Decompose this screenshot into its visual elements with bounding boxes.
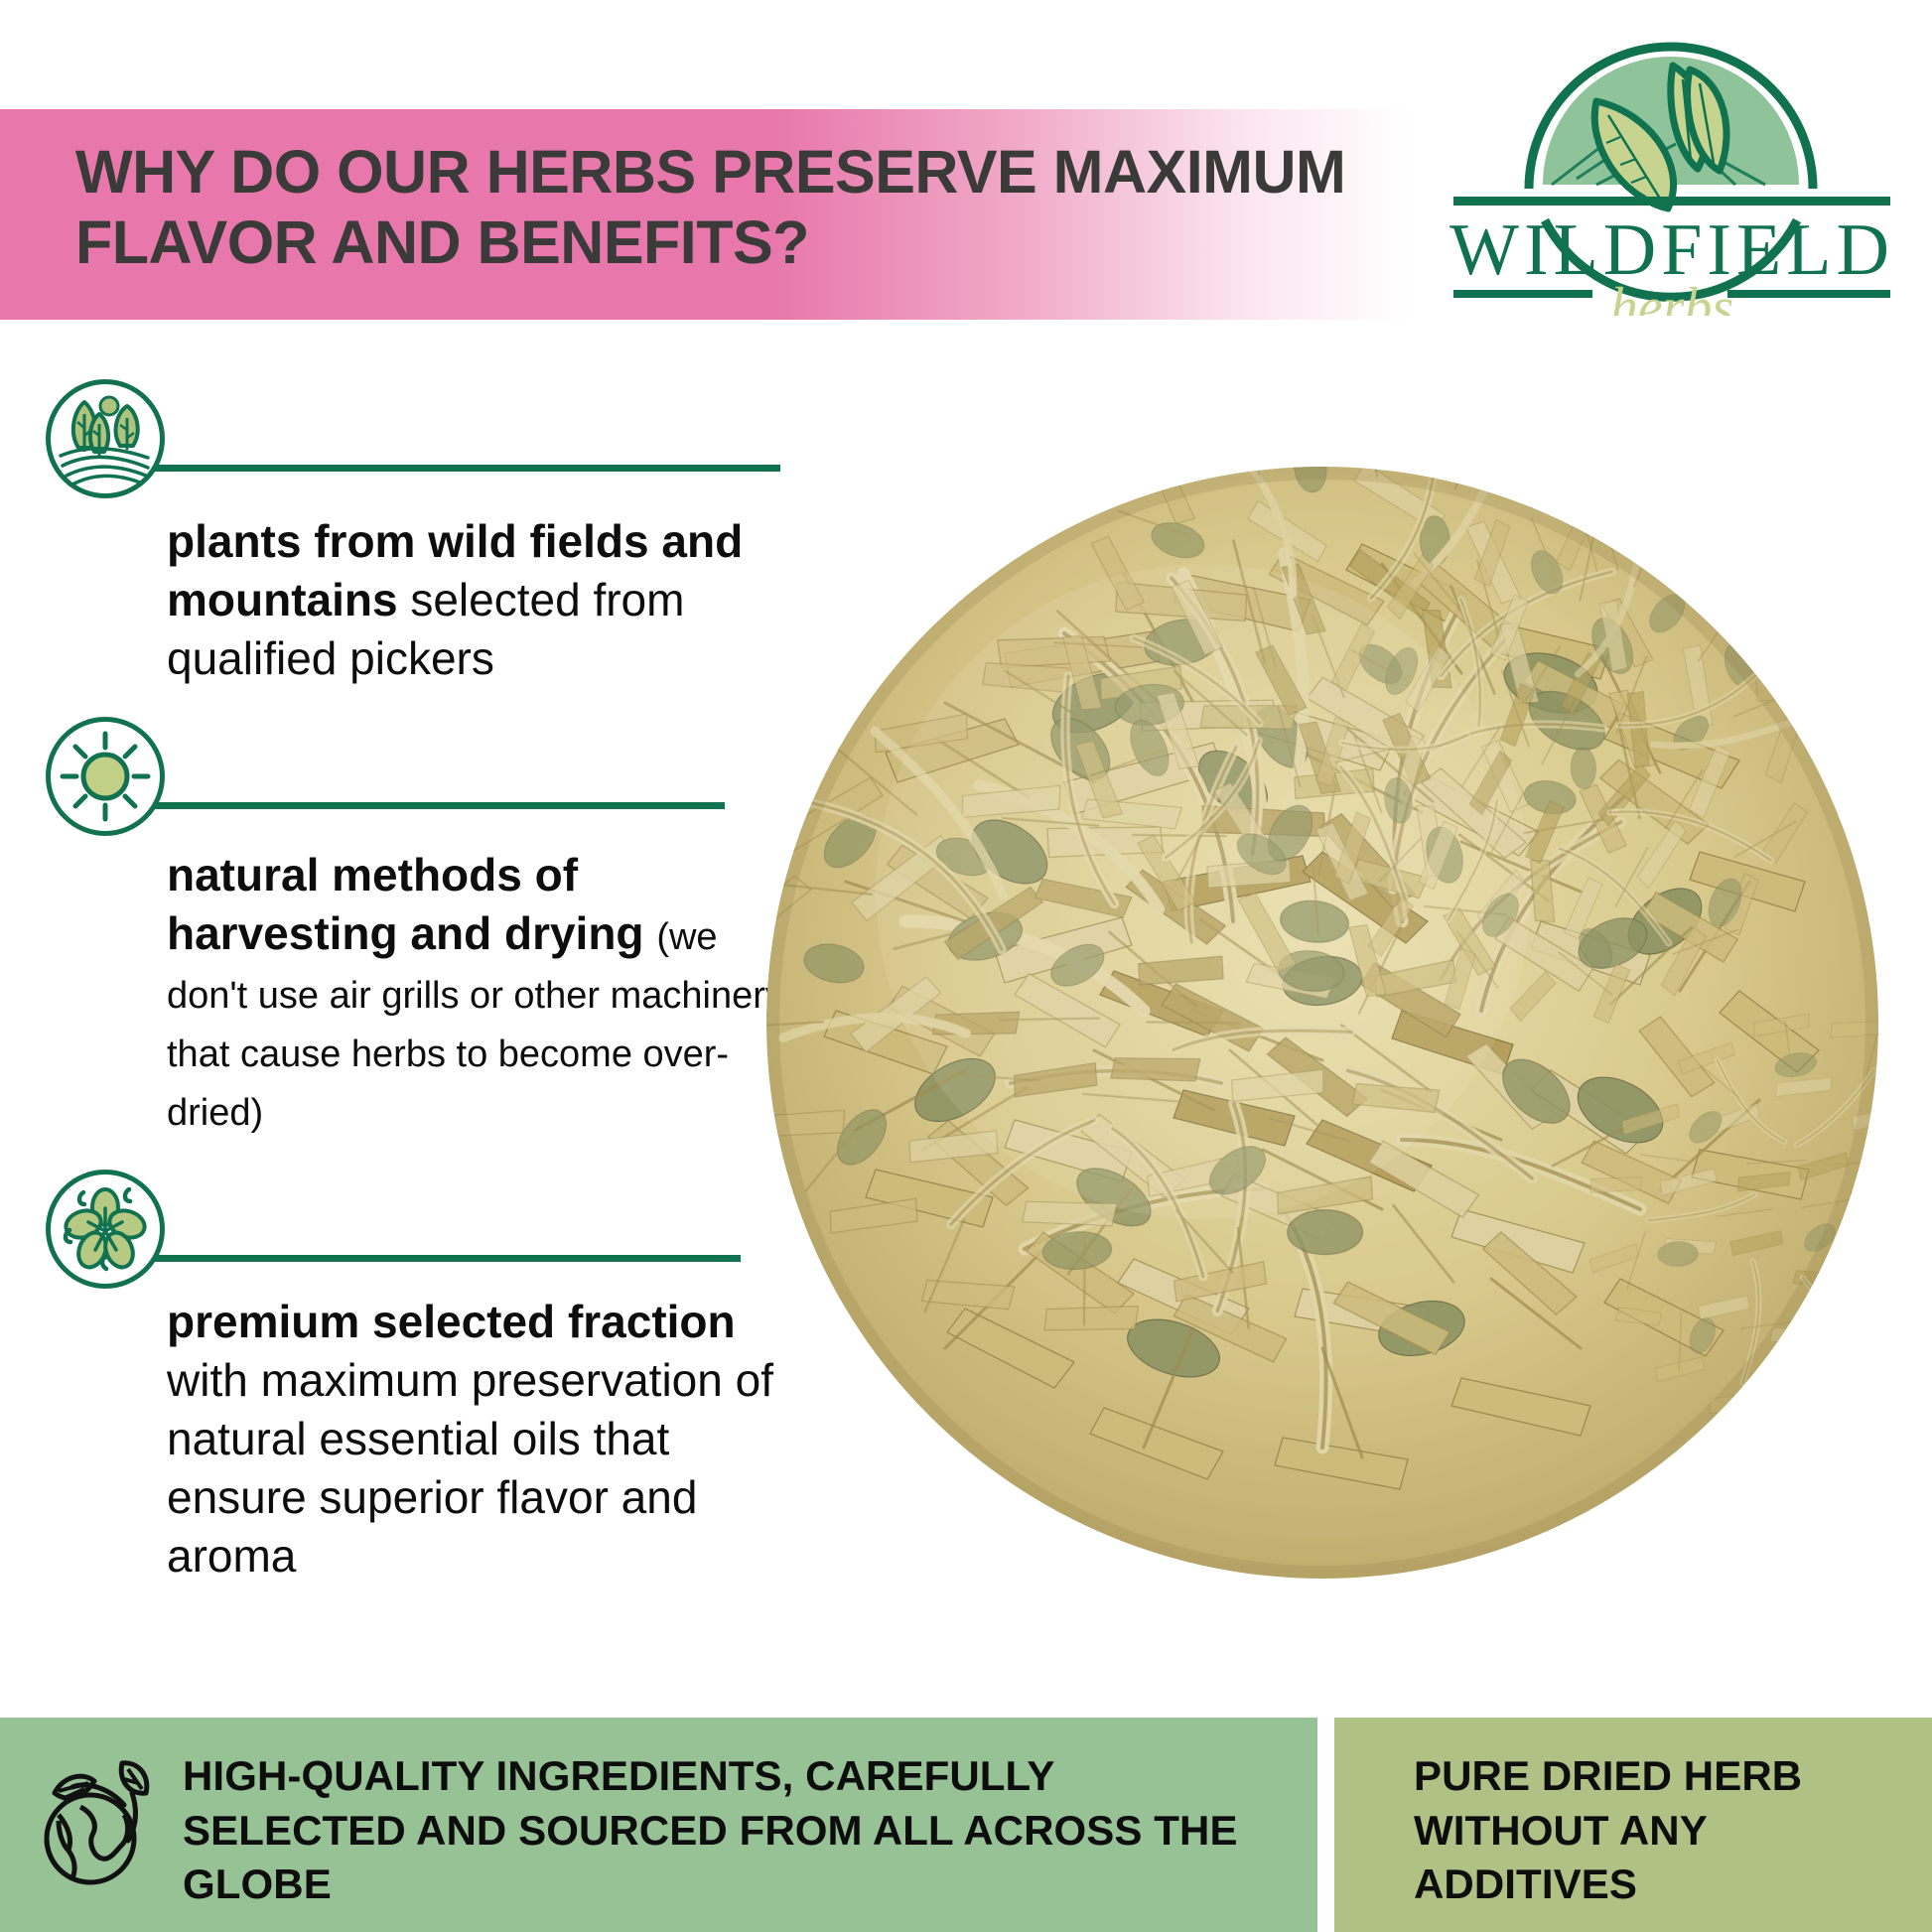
feature-regular-text: with maximum preservation of natural ess… (167, 1354, 773, 1582)
page-title: WHY DO OUR HERBS PRESERVE MAXIMUM FLAVOR… (75, 137, 1346, 279)
bottom-bar-pure-herb-text: PURE DRIED HERB WITHOUT ANY ADDITIVES (1414, 1749, 1910, 1912)
header-banner: WHY DO OUR HERBS PRESERVE MAXIMUM FLAVOR… (0, 109, 1410, 320)
feature-divider-line (149, 1255, 741, 1262)
feature-divider-line (149, 465, 780, 472)
bottom-bar-quality-text: HIGH-QUALITY INGREDIENTS, CAREFULLY SELE… (183, 1749, 1285, 1912)
feature-bold-text: premium selected fraction (167, 1296, 736, 1347)
feature-text: plants from wild fields and mountains se… (167, 512, 802, 688)
wild-field-landscape-icon (46, 379, 165, 498)
feature-bold-text: natural methods of harvesting and drying (167, 849, 644, 959)
sun-drying-icon (46, 717, 165, 836)
flower-essential-oil-icon (46, 1170, 165, 1289)
feature-text: natural methods of harvesting and drying… (167, 846, 802, 1138)
brand-logo: WILDFIELD herbs (1438, 40, 1904, 316)
feature-text: premium selected fraction with maximum p… (167, 1293, 802, 1585)
bottom-bar-pure-herb: PURE DRIED HERB WITHOUT ANY ADDITIVES (1334, 1718, 1932, 1932)
feature-divider-line (149, 802, 725, 809)
globe-leaf-icon (33, 1753, 160, 1892)
bottom-bar-quality: HIGH-QUALITY INGREDIENTS, CAREFULLY SELE… (0, 1718, 1317, 1932)
product-photo-dried-herb (766, 455, 1878, 1594)
logo-brand-subtitle: herbs (1610, 277, 1733, 316)
